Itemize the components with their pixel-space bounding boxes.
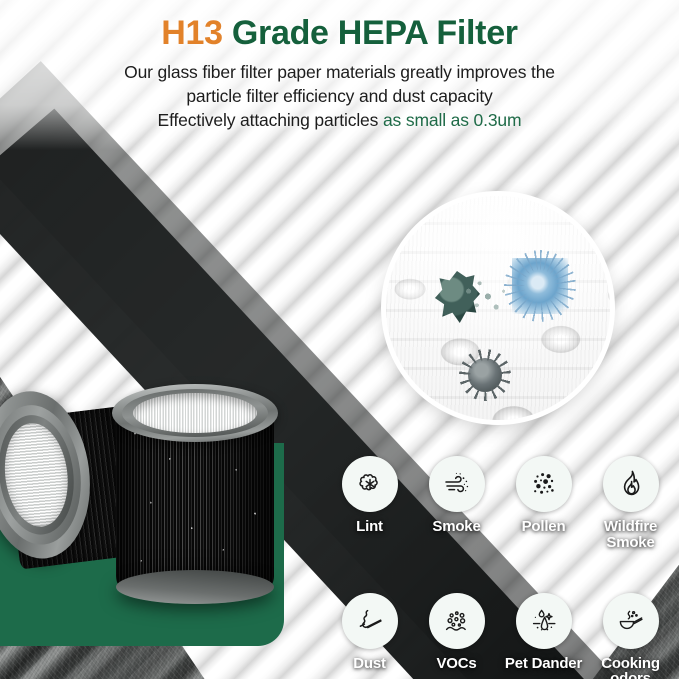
cooking-pan-icon bbox=[603, 593, 659, 649]
filter-front-hepa-pleats bbox=[133, 393, 257, 433]
subtitle-line-3-accent: as small as 0.3um bbox=[383, 110, 521, 130]
cigarette-dust-icon bbox=[342, 593, 398, 649]
feature-label: Lint bbox=[356, 519, 383, 535]
feature-label: Wildfire Smoke bbox=[604, 519, 657, 551]
page-title: H13 Grade HEPA Filter bbox=[0, 14, 679, 52]
smoke-icon bbox=[429, 456, 485, 512]
feature-cooking-odors: Cooking odors bbox=[587, 593, 674, 679]
feature-pet-dander: Pet Dander bbox=[500, 593, 587, 679]
green-particle-specks bbox=[464, 278, 510, 322]
lint-icon bbox=[342, 456, 398, 512]
gray-virus-particle bbox=[468, 358, 502, 392]
pet-dander-icon bbox=[516, 593, 572, 649]
microscope-inset bbox=[386, 196, 610, 420]
header: H13 Grade HEPA Filter Our glass fiber fi… bbox=[0, 14, 679, 133]
pollen-icon bbox=[516, 456, 572, 512]
feature-label: Pet Dander bbox=[505, 656, 582, 672]
feature-label: Pollen bbox=[522, 519, 566, 535]
feature-lint: Lint bbox=[326, 456, 413, 551]
subtitle: Our glass fiber filter paper materials g… bbox=[0, 60, 679, 132]
feature-row-2: Dust VOCs bbox=[326, 593, 674, 679]
feature-label: Dust bbox=[353, 656, 386, 672]
feature-dust: Dust bbox=[326, 593, 413, 679]
product-images bbox=[0, 372, 300, 647]
filtration-feature-grid: Lint Sm bbox=[326, 456, 674, 679]
subtitle-line-3: Effectively attaching particles as small… bbox=[0, 108, 679, 132]
feature-pollen: Pollen bbox=[500, 456, 587, 551]
feature-label: Smoke bbox=[432, 519, 480, 535]
filter-front-bottom-rim bbox=[116, 570, 274, 604]
feature-row-1: Lint Sm bbox=[326, 456, 674, 551]
feature-vocs: VOCs bbox=[413, 593, 500, 679]
subtitle-line-3-plain: Effectively attaching particles bbox=[158, 110, 383, 130]
title-rest: Grade HEPA Filter bbox=[223, 14, 518, 52]
feature-wildfire-smoke: Wildfire Smoke bbox=[587, 456, 674, 551]
hepa-carbon-filter-front bbox=[108, 380, 288, 610]
feature-smoke: Smoke bbox=[413, 456, 500, 551]
vocs-bubbles-icon bbox=[429, 593, 485, 649]
feature-label: Cooking odors bbox=[601, 656, 660, 679]
product-infographic: H13 Grade HEPA Filter Our glass fiber fi… bbox=[0, 0, 679, 679]
feature-label: VOCs bbox=[436, 656, 476, 672]
subtitle-line-1: Our glass fiber filter paper materials g… bbox=[0, 60, 679, 84]
blue-pollen-particle bbox=[512, 258, 568, 314]
title-highlight: H13 bbox=[161, 14, 222, 52]
wildfire-flame-icon bbox=[603, 456, 659, 512]
subtitle-line-2: particle filter efficiency and dust capa… bbox=[0, 84, 679, 108]
